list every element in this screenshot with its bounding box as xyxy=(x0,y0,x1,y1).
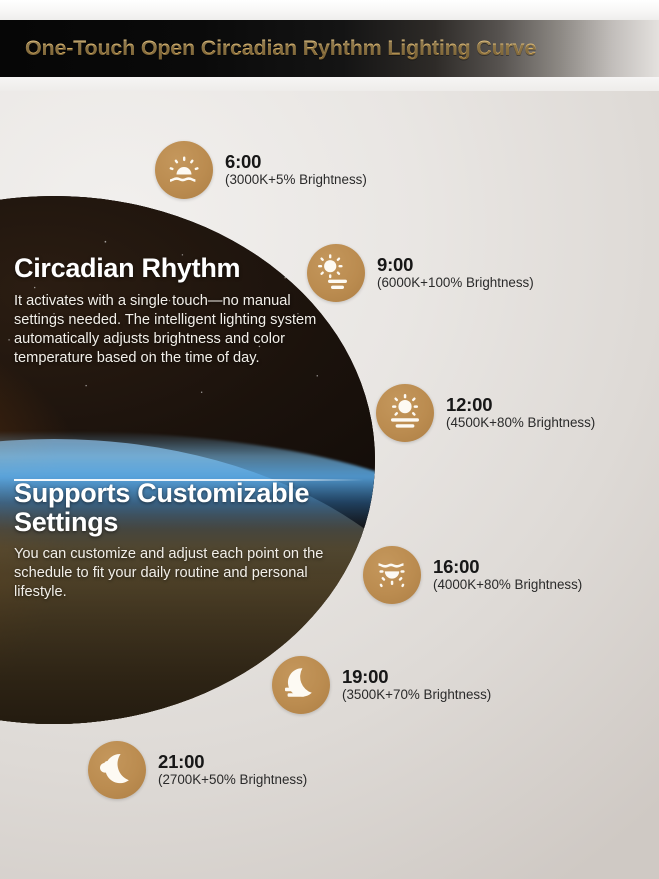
midday-sun-icon xyxy=(376,384,434,442)
hero-heading-settings: Supports Customizable Settings xyxy=(14,479,360,536)
schedule-entry-16-00[interactable]: 16:00 (4000K+80% Brightness) xyxy=(363,546,582,604)
moon-lines-icon xyxy=(272,656,330,714)
schedule-entry-12-00[interactable]: 12:00 (4500K+80% Brightness) xyxy=(376,384,595,442)
schedule-entry-text: 16:00 (4000K+80% Brightness) xyxy=(433,557,582,592)
schedule-detail: (3000K+5% Brightness) xyxy=(225,173,367,188)
schedule-detail: (4000K+80% Brightness) xyxy=(433,578,582,593)
schedule-detail: (3500K+70% Brightness) xyxy=(342,688,491,703)
schedule-time: 21:00 xyxy=(158,752,307,771)
schedule-time: 16:00 xyxy=(433,557,582,576)
schedule-time: 6:00 xyxy=(225,152,367,171)
top-white-strip xyxy=(0,0,659,20)
moon-cloud-icon xyxy=(88,741,146,799)
schedule-entry-9-00[interactable]: 9:00 (6000K+100% Brightness) xyxy=(307,244,534,302)
sunrise-icon xyxy=(155,141,213,199)
schedule-entry-6-00[interactable]: 6:00 (3000K+5% Brightness) xyxy=(155,141,367,199)
header-underline-strip xyxy=(0,77,659,91)
schedule-entry-19-00[interactable]: 19:00 (3500K+70% Brightness) xyxy=(272,656,491,714)
schedule-time: 12:00 xyxy=(446,395,595,414)
schedule-entry-text: 21:00 (2700K+50% Brightness) xyxy=(158,752,307,787)
schedule-detail: (2700K+50% Brightness) xyxy=(158,773,307,788)
schedule-entry-text: 9:00 (6000K+100% Brightness) xyxy=(377,255,534,290)
schedule-time: 19:00 xyxy=(342,667,491,686)
schedule-entry-text: 19:00 (3500K+70% Brightness) xyxy=(342,667,491,702)
hero-block-circadian-rhythm: Circadian Rhythm It activates with a sin… xyxy=(14,254,344,367)
hero-body-settings: You can customize and adjust each point … xyxy=(14,545,360,602)
schedule-detail: (6000K+100% Brightness) xyxy=(377,276,534,291)
page-title: One-Touch Open Circadian Ryhthm Lighting… xyxy=(25,36,536,61)
schedule-entry-text: 6:00 (3000K+5% Brightness) xyxy=(225,152,367,187)
schedule-time: 9:00 xyxy=(377,255,534,274)
hero-block-customizable-settings: Supports Customizable Settings You can c… xyxy=(14,479,360,602)
header-bar: One-Touch Open Circadian Ryhthm Lighting… xyxy=(0,20,659,77)
hero-body-circadian: It activates with a single touch—no manu… xyxy=(14,292,344,368)
sunset-icon xyxy=(363,546,421,604)
schedule-entry-text: 12:00 (4500K+80% Brightness) xyxy=(446,395,595,430)
morning-sun-icon xyxy=(307,244,365,302)
schedule-detail: (4500K+80% Brightness) xyxy=(446,416,595,431)
infographic-page: One-Touch Open Circadian Ryhthm Lighting… xyxy=(0,0,659,879)
schedule-entry-21-00[interactable]: 21:00 (2700K+50% Brightness) xyxy=(88,741,307,799)
hero-heading-circadian: Circadian Rhythm xyxy=(14,254,344,283)
